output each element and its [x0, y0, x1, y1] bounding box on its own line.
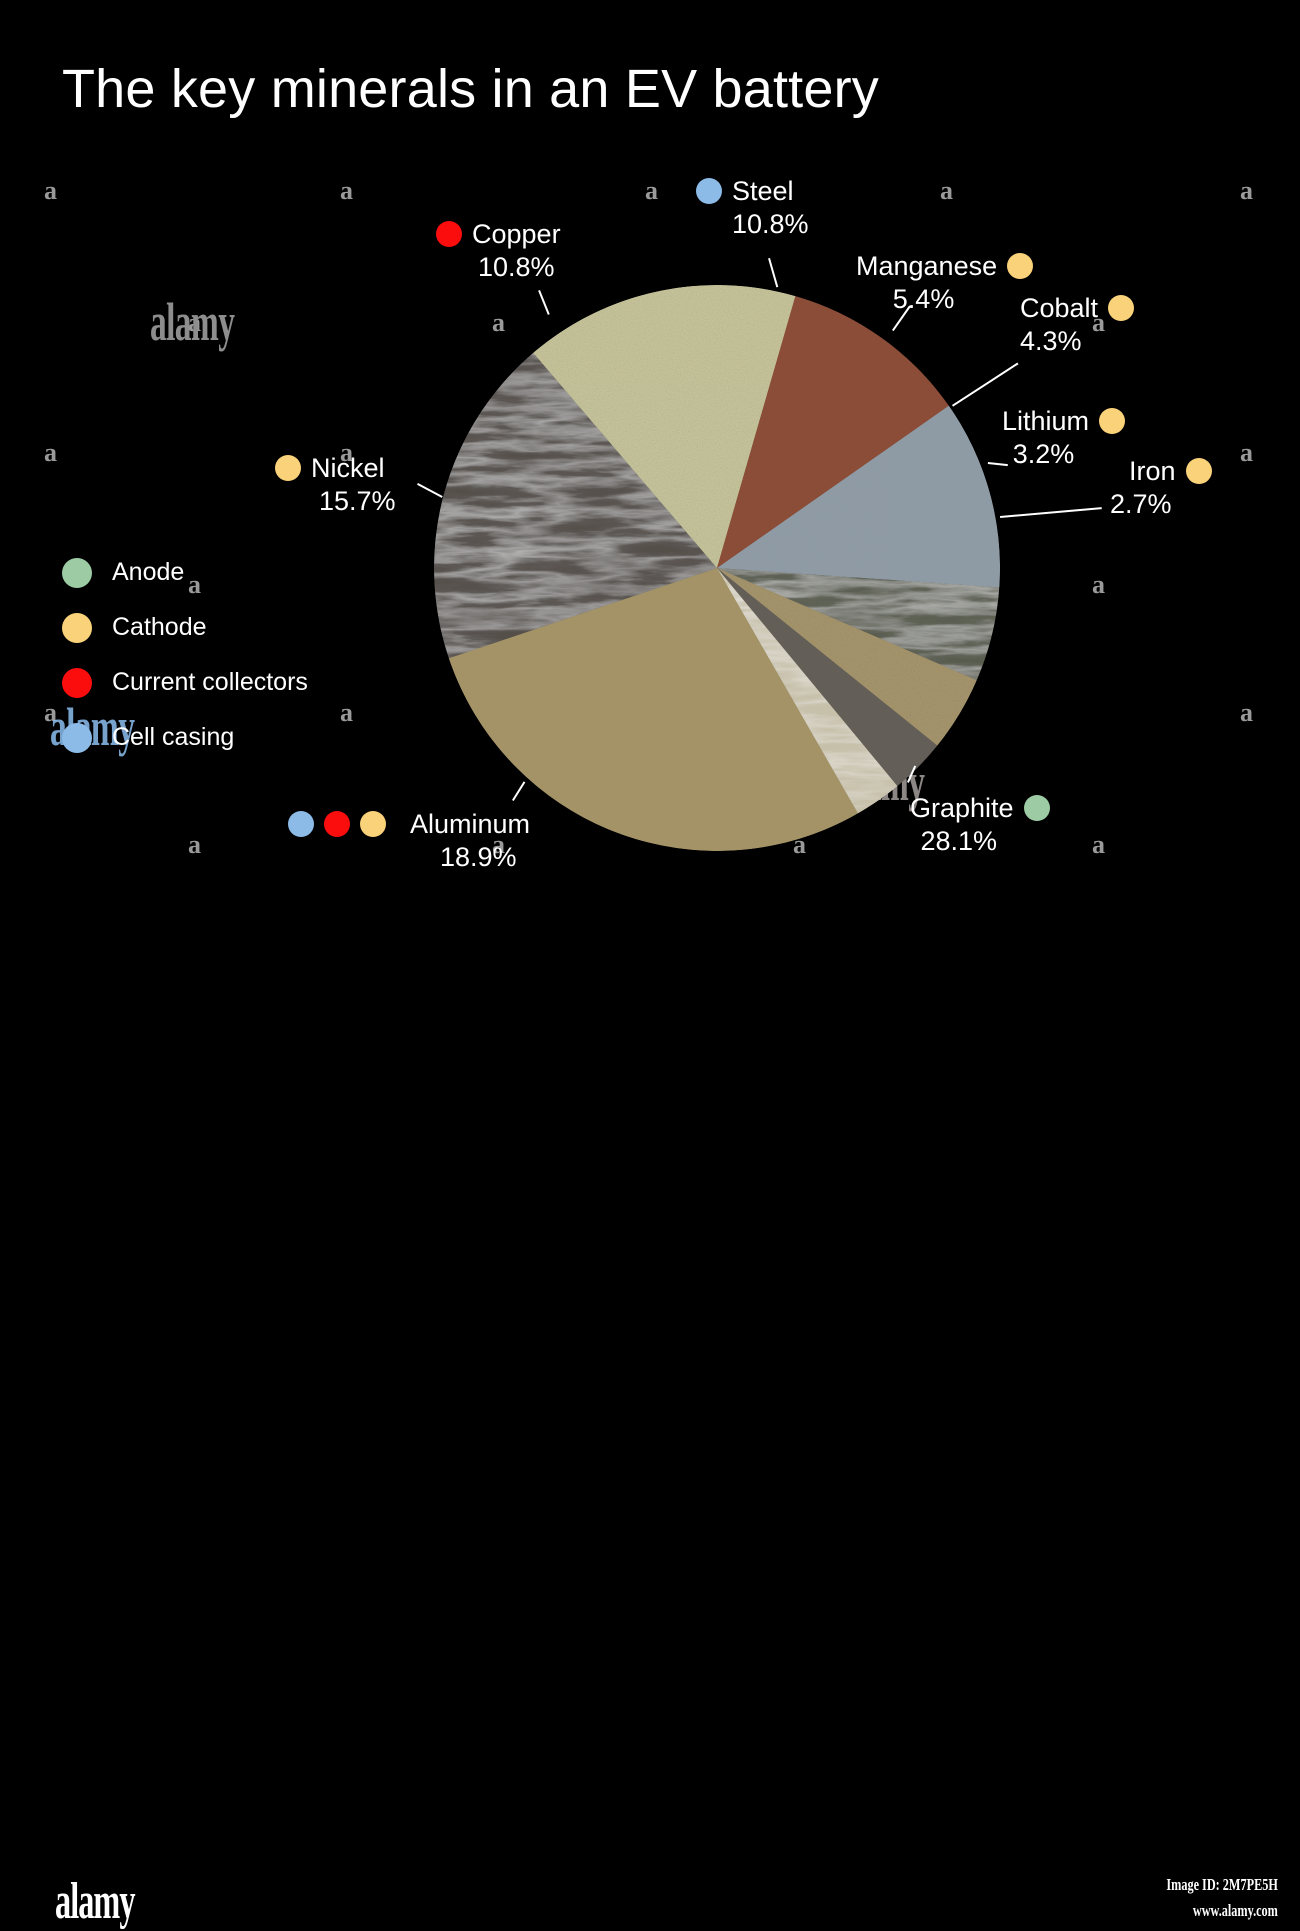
watermark-letter: a: [340, 700, 353, 726]
watermark-letter: a: [188, 832, 201, 858]
label-graphite-name: Graphite: [910, 792, 1014, 825]
watermark-letter: a: [44, 440, 57, 466]
legend-item-anode[interactable]: Anode: [62, 545, 308, 600]
watermark-letter: a: [44, 178, 57, 204]
legend-swatch-cathode: [62, 613, 92, 643]
watermark-letter: a: [1092, 832, 1105, 858]
watermark-letter: a: [1240, 700, 1253, 726]
legend-item-current-collectors[interactable]: Current collectors: [62, 655, 308, 710]
label-iron: Iron 2.7%: [1110, 455, 1212, 521]
leader-line-iron: [1000, 507, 1102, 517]
label-steel-name: Steel: [732, 175, 794, 208]
legend-item-cathode[interactable]: Cathode: [62, 600, 308, 655]
label-nickel-percent: 15.7%: [319, 485, 396, 518]
image-id: Image ID: 2M7PE5H: [1166, 1872, 1278, 1898]
role-dot-cathode: [275, 455, 301, 481]
infographic-canvas: aaaaaaaaaaaaaaaaaaaaaaaaaaaalamyalamyala…: [0, 0, 1300, 1009]
watermark-letter: a: [188, 310, 201, 336]
label-nickel: Nickel 15.7%: [275, 452, 396, 518]
legend-swatch-cell-casing: [62, 723, 92, 753]
role-dot-cathode: [1108, 295, 1134, 321]
legend-swatch-anode: [62, 558, 92, 588]
label-manganese: Manganese 5.4%: [856, 250, 1033, 316]
legend-label-current-collectors: Current collectors: [112, 668, 308, 697]
alamy-logo: alamy: [55, 1872, 135, 1931]
footer-meta: Image ID: 2M7PE5H www.alamy.com: [1123, 1872, 1278, 1925]
role-dot-cathode: [1007, 253, 1033, 279]
role-dot-cathode: [1099, 408, 1125, 434]
watermark-word: alamy: [150, 295, 234, 349]
legend-label-anode: Anode: [112, 558, 184, 587]
watermark-letter: a: [645, 178, 658, 204]
role-dot-cell-casing: [696, 178, 722, 204]
label-copper-name: Copper: [472, 218, 561, 251]
label-cobalt-name: Cobalt: [1020, 292, 1098, 325]
label-cobalt-percent: 4.3%: [1020, 325, 1134, 358]
label-aluminum: Aluminum 18.9%: [288, 808, 530, 874]
label-manganese-name: Manganese: [856, 250, 997, 283]
role-dot-current-collectors: [324, 811, 350, 837]
label-graphite-percent: 28.1%: [910, 825, 1008, 858]
label-cobalt: Cobalt 4.3%: [1020, 292, 1134, 358]
role-dot-cathode: [1186, 458, 1212, 484]
label-nickel-name: Nickel: [311, 452, 385, 485]
watermark-letter: a: [1092, 572, 1105, 598]
label-copper-percent: 10.8%: [478, 251, 561, 284]
label-graphite: Graphite 28.1%: [910, 792, 1050, 858]
role-dot-current-collectors: [436, 221, 462, 247]
legend-swatch-current-collectors: [62, 668, 92, 698]
watermark-letter: a: [1240, 440, 1253, 466]
page-title: The key minerals in an EV battery: [62, 58, 879, 120]
label-lithium-percent: 3.2%: [1002, 438, 1085, 471]
label-manganese-percent: 5.4%: [856, 283, 991, 316]
label-lithium: Lithium 3.2%: [1002, 405, 1125, 471]
legend-label-cell-casing: Cell casing: [112, 723, 234, 752]
label-aluminum-percent: 18.9%: [440, 841, 530, 874]
label-iron-percent: 2.7%: [1110, 488, 1172, 521]
watermark-letter: a: [940, 178, 953, 204]
footer-bar: alamy Image ID: 2M7PE5H www.alamy.com: [0, 930, 1300, 1009]
watermark-letter: a: [1240, 178, 1253, 204]
leader-line-steel: [768, 258, 778, 287]
legend: Anode Cathode Current collectors Cell ca…: [62, 545, 308, 765]
role-dot-anode: [1024, 795, 1050, 821]
label-iron-name: Iron: [1129, 455, 1176, 488]
legend-label-cathode: Cathode: [112, 613, 207, 642]
watermark-letter: a: [44, 700, 57, 726]
role-dot-cathode: [360, 811, 386, 837]
label-steel: Steel 10.8%: [696, 175, 809, 241]
label-aluminum-name: Aluminum: [410, 808, 530, 841]
role-dot-cell-casing: [288, 811, 314, 837]
website-url: www.alamy.com: [1166, 1898, 1278, 1924]
watermark-letter: a: [340, 178, 353, 204]
label-steel-percent: 10.8%: [732, 208, 809, 241]
legend-item-cell-casing[interactable]: Cell casing: [62, 710, 308, 765]
label-copper: Copper 10.8%: [436, 218, 561, 284]
label-lithium-name: Lithium: [1002, 405, 1089, 438]
